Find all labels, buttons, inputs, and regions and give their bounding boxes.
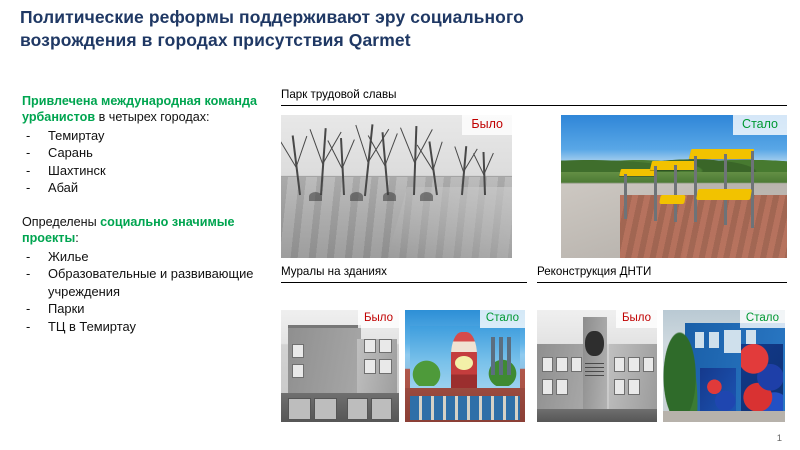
paragraph-projects-colon: : — [75, 231, 79, 245]
badge-after: Стало — [480, 310, 525, 328]
cities-list: -Темиртау -Сарань -Шахтинск -Абай — [22, 127, 262, 197]
list-item: -Парки — [22, 300, 262, 318]
project-name: Парки — [48, 301, 84, 316]
photo-dnti-before[interactable]: Было — [537, 310, 657, 422]
list-item: -Шахтинск — [22, 162, 262, 180]
dash-bullet-icon: - — [26, 248, 30, 266]
dash-bullet-icon: - — [26, 179, 30, 197]
photo-mural-before[interactable]: Было — [281, 310, 399, 422]
project-name: Образовательные и развивающие учреждения — [48, 266, 253, 299]
dash-bullet-icon: - — [26, 318, 30, 336]
section-heading-dnti: Реконструкция ДНТИ — [537, 265, 787, 283]
paragraph-projects-lead: Определены — [22, 215, 100, 229]
photo-art-park-after — [561, 115, 787, 258]
badge-before: Было — [462, 115, 512, 135]
dash-bullet-icon: - — [26, 265, 30, 283]
dash-bullet-icon: - — [26, 144, 30, 162]
column-spacer — [22, 197, 262, 214]
dash-bullet-icon: - — [26, 300, 30, 318]
list-item: -Темиртау — [22, 127, 262, 145]
photo-art-park-before — [281, 115, 512, 258]
dash-bullet-icon: - — [26, 127, 30, 145]
city-name: Абай — [48, 180, 78, 195]
page-title: Политические реформы поддерживают эру со… — [20, 6, 640, 52]
section-heading-murals: Муралы на зданиях — [281, 265, 527, 283]
list-item: -Сарань — [22, 144, 262, 162]
photo-dnti-after[interactable]: Стало — [663, 310, 785, 422]
projects-list: -Жилье -Образовательные и развивающие уч… — [22, 248, 262, 336]
dash-bullet-icon: - — [26, 162, 30, 180]
left-text-column: Привлечена международная команда урбанис… — [22, 93, 262, 335]
badge-after: Стало — [733, 115, 787, 135]
paragraph-urbanists-rest: в четырех городах: — [95, 110, 209, 124]
badge-before: Было — [616, 310, 657, 328]
photo-park-after[interactable]: Стало — [561, 115, 787, 258]
badge-before: Было — [358, 310, 399, 328]
slide-number: 1 — [777, 433, 782, 444]
paragraph-urbanists: Привлечена международная команда урбанис… — [22, 93, 262, 126]
paragraph-projects: Определены социально значимые проекты: — [22, 214, 262, 247]
city-name: Шахтинск — [48, 163, 106, 178]
badge-after: Стало — [740, 310, 785, 328]
city-name: Сарань — [48, 145, 93, 160]
section-heading-park: Парк трудовой славы — [281, 88, 787, 106]
photo-mural-after[interactable]: Стало — [405, 310, 525, 422]
list-item: -Абай — [22, 179, 262, 197]
list-item: -ТЦ в Темиртау — [22, 318, 262, 336]
project-name: Жилье — [48, 249, 89, 264]
city-name: Темиртау — [48, 128, 105, 143]
list-item: -Жилье — [22, 248, 262, 266]
list-item: -Образовательные и развивающие учреждени… — [22, 265, 262, 300]
monument-shape — [583, 317, 607, 416]
project-name: ТЦ в Темиртау — [48, 319, 136, 334]
photo-park-before[interactable]: Было — [281, 115, 512, 258]
